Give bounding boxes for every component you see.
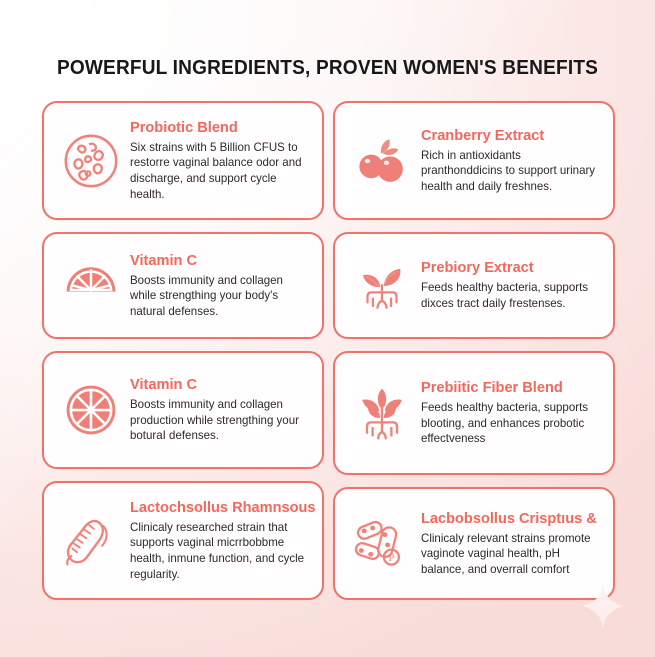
benefit-description: Boosts immunity and collagen production …: [130, 397, 305, 444]
benefit-description: Clinicaly researched strain that support…: [130, 520, 320, 582]
benefit-title: Prebiitic Fiber Blend: [421, 379, 592, 396]
sprout-roots-icon: [345, 249, 419, 323]
benefit-title: Vitamin C: [130, 252, 301, 269]
benefit-card-text: Lacbobsollus Crisptıus & Clinicaly relev…: [419, 510, 606, 578]
citrus-wedge-icon: [54, 249, 128, 323]
plant-roots-icon: [345, 376, 419, 450]
benefit-card-vitamin-c-slice[interactable]: Vitamin C Boosts immunity and collagen p…: [42, 351, 324, 469]
bacteria-cluster-icon: P: [345, 507, 419, 581]
benefit-card-text: Vitamin C Boosts immunity and collagen p…: [128, 376, 310, 444]
infographic-canvas: POWERFUL INGREDIENTS, PROVEN WOMEN'S BEN…: [0, 0, 655, 657]
benefit-card-text: Cranberry Extract Rich in antioxidants p…: [419, 127, 601, 195]
svg-text:P: P: [389, 552, 395, 563]
benefit-card-lactobacillus-rhamnosus[interactable]: Lactochsollus Rhamnsous Clinicaly resear…: [42, 481, 324, 600]
benefit-title: Prebiory Extract: [421, 259, 592, 276]
benefit-description: Boosts immunity and collagen while stren…: [130, 273, 305, 320]
benefit-title: Lacbobsollus Crisptıus &: [421, 510, 597, 527]
benefit-title: Cranberry Extract: [421, 127, 592, 144]
benefits-grid: Probiotic Blend Six strains with 5 Billi…: [42, 101, 615, 612]
benefit-description: Rich in antioxidants pranthonddicins to …: [421, 148, 596, 195]
benefit-card-text: Prebiitic Fiber Blend Feeds healthy bact…: [419, 379, 601, 447]
page-title: POWERFUL INGREDIENTS, PROVEN WOMEN'S BEN…: [23, 56, 632, 80]
cranberry-icon: [345, 124, 419, 198]
citrus-slice-icon: [54, 373, 128, 447]
benefit-title: Probiotic Blend: [130, 119, 301, 136]
corner-accent: [0, 0, 16, 16]
benefit-description: Feeds healthy bacteria, supports blootin…: [421, 400, 596, 447]
benefit-card-prebiotic-fiber-blend[interactable]: Prebiitic Fiber Blend Feeds healthy bact…: [333, 351, 615, 475]
benefits-column-right: Cranberry Extract Rich in antioxidants p…: [333, 101, 615, 612]
benefit-card-cranberry-extract[interactable]: Cranberry Extract Rich in antioxidants p…: [333, 101, 615, 220]
lactobacillus-rod-icon: [54, 504, 128, 578]
benefit-card-text: Prebiory Extract Feeds healthy bacteria,…: [419, 259, 601, 311]
benefit-card-text: Vitamin C Boosts immunity and collagen w…: [128, 252, 310, 320]
petri-dish-bacteria-icon: [54, 124, 128, 198]
benefit-title: Vitamin C: [130, 376, 301, 393]
benefit-card-vitamin-c-wedge[interactable]: Vitamin C Boosts immunity and collagen w…: [42, 232, 324, 339]
benefit-card-prebiory-extract[interactable]: Prebiory Extract Feeds healthy bacteria,…: [333, 232, 615, 339]
benefit-description: Clinicaly relevant strains promote vagin…: [421, 531, 601, 578]
benefits-column-left: Probiotic Blend Six strains with 5 Billi…: [42, 101, 324, 612]
benefit-description: Six strains with 5 Billion CFUS to resto…: [130, 140, 305, 202]
benefit-card-text: Lactochsollus Rhamnsous Clinicaly resear…: [128, 499, 325, 582]
sparkle-icon: [583, 583, 623, 629]
benefit-title: Lactochsollus Rhamnsous: [130, 499, 316, 516]
benefit-card-lactobacillus-crispatus[interactable]: P Lacbobsollus Crisptıus & Clinicaly rel…: [333, 487, 615, 600]
benefit-card-probiotic-blend[interactable]: Probiotic Blend Six strains with 5 Billi…: [42, 101, 324, 220]
benefit-description: Feeds healthy bacteria, supports dixces …: [421, 280, 596, 311]
benefit-card-text: Probiotic Blend Six strains with 5 Billi…: [128, 119, 310, 202]
